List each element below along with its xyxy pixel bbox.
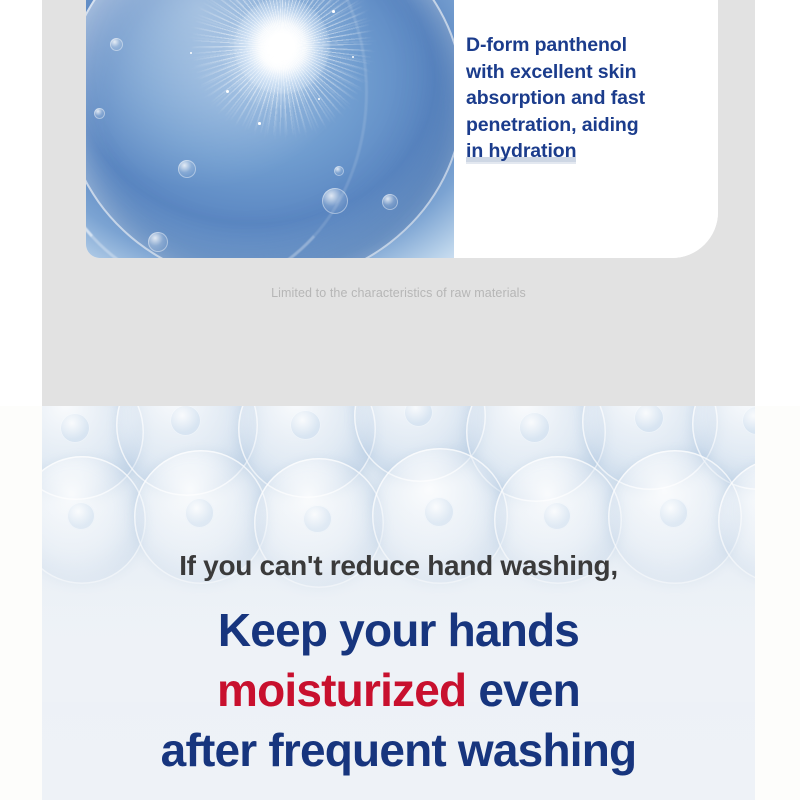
feature-copy-line-4: penetration, aiding: [466, 112, 706, 139]
blue-sphere-starburst-photo: [86, 0, 454, 258]
headline-line-1: If you can't reduce hand washing,: [42, 550, 755, 582]
feature-text-block: D-form panthenol with excellent skin abs…: [454, 0, 718, 258]
product-detail-page: D-form panthenol with excellent skin abs…: [0, 0, 800, 800]
gel-bubbles-photo: If you can't reduce hand washing, Keep y…: [42, 406, 755, 800]
feature-copy: D-form panthenol with excellent skin abs…: [466, 32, 706, 165]
water-bubble: [110, 38, 123, 51]
water-bubble: [94, 108, 105, 119]
starburst-core: [234, 0, 330, 94]
feature-copy-line-5: in hydration: [466, 138, 706, 165]
headline-line-3: moisturized even: [42, 664, 755, 716]
highlighted-text: in hydration: [466, 140, 576, 162]
headline-line-4: after frequent washing: [42, 724, 755, 776]
headline-word-even: even: [478, 664, 580, 716]
water-bubble: [178, 160, 196, 178]
water-bubble: [322, 188, 348, 214]
blue-swoosh-logo: [444, 0, 718, 2]
feature-copy-line-2: with excellent skin: [466, 59, 706, 86]
water-bubble: [382, 194, 398, 210]
feature-card: D-form panthenol with excellent skin abs…: [86, 0, 718, 258]
headline-word-moisturized: moisturized: [217, 664, 466, 716]
headline-block: If you can't reduce hand washing, Keep y…: [42, 406, 755, 800]
hand-moisture-hero-section: If you can't reduce hand washing, Keep y…: [0, 406, 800, 800]
ingredient-feature-section: D-form panthenol with excellent skin abs…: [0, 0, 800, 406]
raw-material-caption: Limited to the characteristics of raw ma…: [42, 286, 755, 300]
feature-copy-line-1: D-form panthenol: [466, 32, 706, 59]
water-bubble: [334, 166, 344, 176]
water-bubble: [148, 232, 168, 252]
feature-copy-line-3: absorption and fast: [466, 85, 706, 112]
headline-line-2: Keep your hands: [42, 604, 755, 656]
